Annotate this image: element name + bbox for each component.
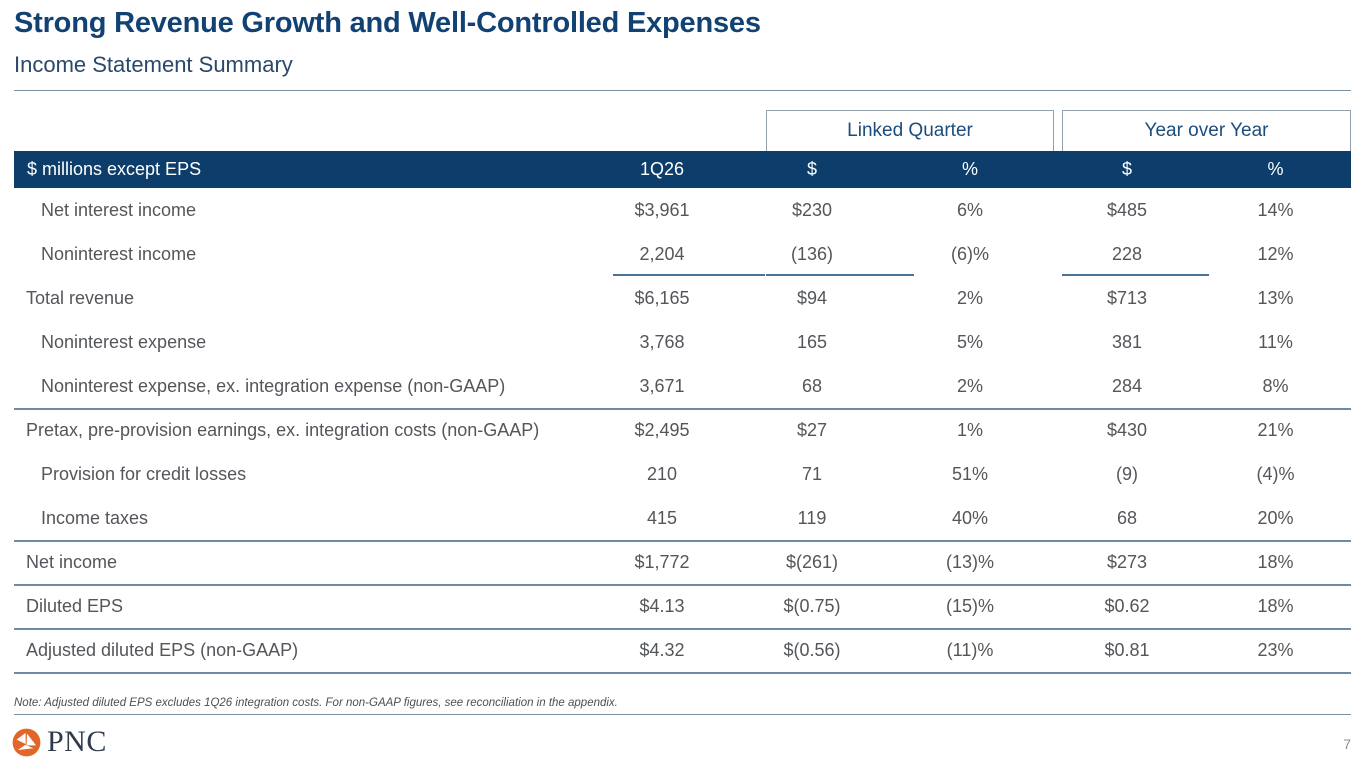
cell-period: 2,204 [586, 232, 738, 276]
cell-period: 3,671 [586, 364, 738, 408]
cell-lq-percent: 2% [886, 276, 1054, 320]
row-label: Income taxes [41, 496, 148, 540]
table-group-header-row: Linked Quarter Year over Year [14, 110, 1351, 151]
column-header-period: 1Q26 [586, 151, 738, 188]
table-row: Income taxes41511940%6820% [14, 496, 1351, 540]
column-header-lq-dollar: $ [738, 151, 886, 188]
table-row: Noninterest income2,204(136)(6)%22812% [14, 232, 1351, 276]
column-header-yoy-dollar: $ [1054, 151, 1200, 188]
cell-yoy-dollar: (9) [1054, 452, 1200, 496]
table-row: Noninterest expense3,7681655%38111% [14, 320, 1351, 364]
cell-yoy-dollar: $713 [1054, 276, 1200, 320]
cell-lq-percent: (11)% [886, 628, 1054, 672]
row-label: Net interest income [41, 188, 196, 232]
cell-lq-dollar: $94 [738, 276, 886, 320]
cell-yoy-dollar: $430 [1054, 408, 1200, 452]
group-header-linked-quarter: Linked Quarter [766, 110, 1054, 151]
column-header-yoy-percent: % [1200, 151, 1351, 188]
row-label: Noninterest income [41, 232, 196, 276]
table-column-header-row: $ millions except EPS 1Q26 $ % $ % [14, 151, 1351, 188]
table-row: Pretax, pre-provision earnings, ex. inte… [14, 408, 1351, 452]
cell-yoy-percent: 18% [1200, 540, 1351, 584]
cell-lq-percent: (15)% [886, 584, 1054, 628]
pnc-logo-text: PNC [47, 727, 107, 757]
table-row: Total revenue$6,165$942%$71313% [14, 276, 1351, 320]
cell-period: $1,772 [586, 540, 738, 584]
cell-period: $2,495 [586, 408, 738, 452]
cell-lq-percent: 6% [886, 188, 1054, 232]
cell-yoy-dollar: 381 [1054, 320, 1200, 364]
table-body: Net interest income$3,961$2306%$48514%No… [14, 188, 1351, 672]
cell-lq-percent: (13)% [886, 540, 1054, 584]
cell-yoy-dollar: $273 [1054, 540, 1200, 584]
page-number: 7 [1343, 736, 1351, 752]
cell-yoy-percent: 21% [1200, 408, 1351, 452]
table-row: Net income$1,772$(261)(13)%$27318% [14, 540, 1351, 584]
cell-yoy-percent: 12% [1200, 232, 1351, 276]
table-row: Net interest income$3,961$2306%$48514% [14, 188, 1351, 232]
cell-yoy-percent: 11% [1200, 320, 1351, 364]
cell-lq-percent: (6)% [886, 232, 1054, 276]
cell-lq-dollar: 119 [738, 496, 886, 540]
cell-lq-dollar: $(0.75) [738, 584, 886, 628]
cell-yoy-dollar: $0.62 [1054, 584, 1200, 628]
cell-lq-dollar: $230 [738, 188, 886, 232]
cell-period: $3,961 [586, 188, 738, 232]
cell-period: $6,165 [586, 276, 738, 320]
row-label: Provision for credit losses [41, 452, 246, 496]
row-label: Pretax, pre-provision earnings, ex. inte… [26, 408, 539, 452]
cell-period: 210 [586, 452, 738, 496]
cell-yoy-percent: 18% [1200, 584, 1351, 628]
cell-period: $4.13 [586, 584, 738, 628]
column-header-label: $ millions except EPS [27, 151, 201, 188]
table-row: Diluted EPS$4.13$(0.75)(15)%$0.6218% [14, 584, 1351, 628]
cell-lq-dollar: $27 [738, 408, 886, 452]
cell-yoy-percent: 14% [1200, 188, 1351, 232]
group-header-year-over-year: Year over Year [1062, 110, 1351, 151]
cell-lq-percent: 40% [886, 496, 1054, 540]
pnc-logo: PNC [12, 727, 107, 757]
cell-lq-dollar: 68 [738, 364, 886, 408]
page-subtitle: Income Statement Summary [14, 52, 293, 78]
row-label: Noninterest expense [41, 320, 206, 364]
cell-yoy-dollar: $485 [1054, 188, 1200, 232]
table-row: Noninterest expense, ex. integration exp… [14, 364, 1351, 408]
cell-period: $4.32 [586, 628, 738, 672]
cell-lq-percent: 5% [886, 320, 1054, 364]
cell-lq-dollar: 165 [738, 320, 886, 364]
cell-period: 3,768 [586, 320, 738, 364]
cell-lq-percent: 1% [886, 408, 1054, 452]
cell-lq-dollar: $(261) [738, 540, 886, 584]
footer-divider [14, 714, 1351, 715]
cell-yoy-dollar: 228 [1054, 232, 1200, 276]
cell-yoy-percent: (4)% [1200, 452, 1351, 496]
pnc-logo-icon [12, 728, 41, 757]
income-statement-table: Linked Quarter Year over Year $ millions… [14, 110, 1351, 672]
row-label: Diluted EPS [26, 584, 123, 628]
cell-yoy-dollar: $0.81 [1054, 628, 1200, 672]
cell-yoy-percent: 20% [1200, 496, 1351, 540]
page-title: Strong Revenue Growth and Well-Controlle… [14, 7, 761, 40]
row-label: Total revenue [26, 276, 134, 320]
table-row: Adjusted diluted EPS (non-GAAP)$4.32$(0.… [14, 628, 1351, 672]
cell-yoy-percent: 23% [1200, 628, 1351, 672]
cell-lq-percent: 2% [886, 364, 1054, 408]
cell-yoy-percent: 13% [1200, 276, 1351, 320]
title-divider [14, 90, 1351, 91]
cell-yoy-dollar: 68 [1054, 496, 1200, 540]
table-row: Provision for credit losses2107151%(9)(4… [14, 452, 1351, 496]
cell-lq-dollar: $(0.56) [738, 628, 886, 672]
cell-period: 415 [586, 496, 738, 540]
cell-lq-dollar: (136) [738, 232, 886, 276]
cell-yoy-dollar: 284 [1054, 364, 1200, 408]
cell-yoy-percent: 8% [1200, 364, 1351, 408]
column-header-lq-percent: % [886, 151, 1054, 188]
row-label: Noninterest expense, ex. integration exp… [41, 364, 505, 408]
row-label: Net income [26, 540, 117, 584]
row-label: Adjusted diluted EPS (non-GAAP) [26, 628, 298, 672]
cell-lq-dollar: 71 [738, 452, 886, 496]
footnote: Note: Adjusted diluted EPS excludes 1Q26… [14, 697, 618, 709]
cell-lq-percent: 51% [886, 452, 1054, 496]
